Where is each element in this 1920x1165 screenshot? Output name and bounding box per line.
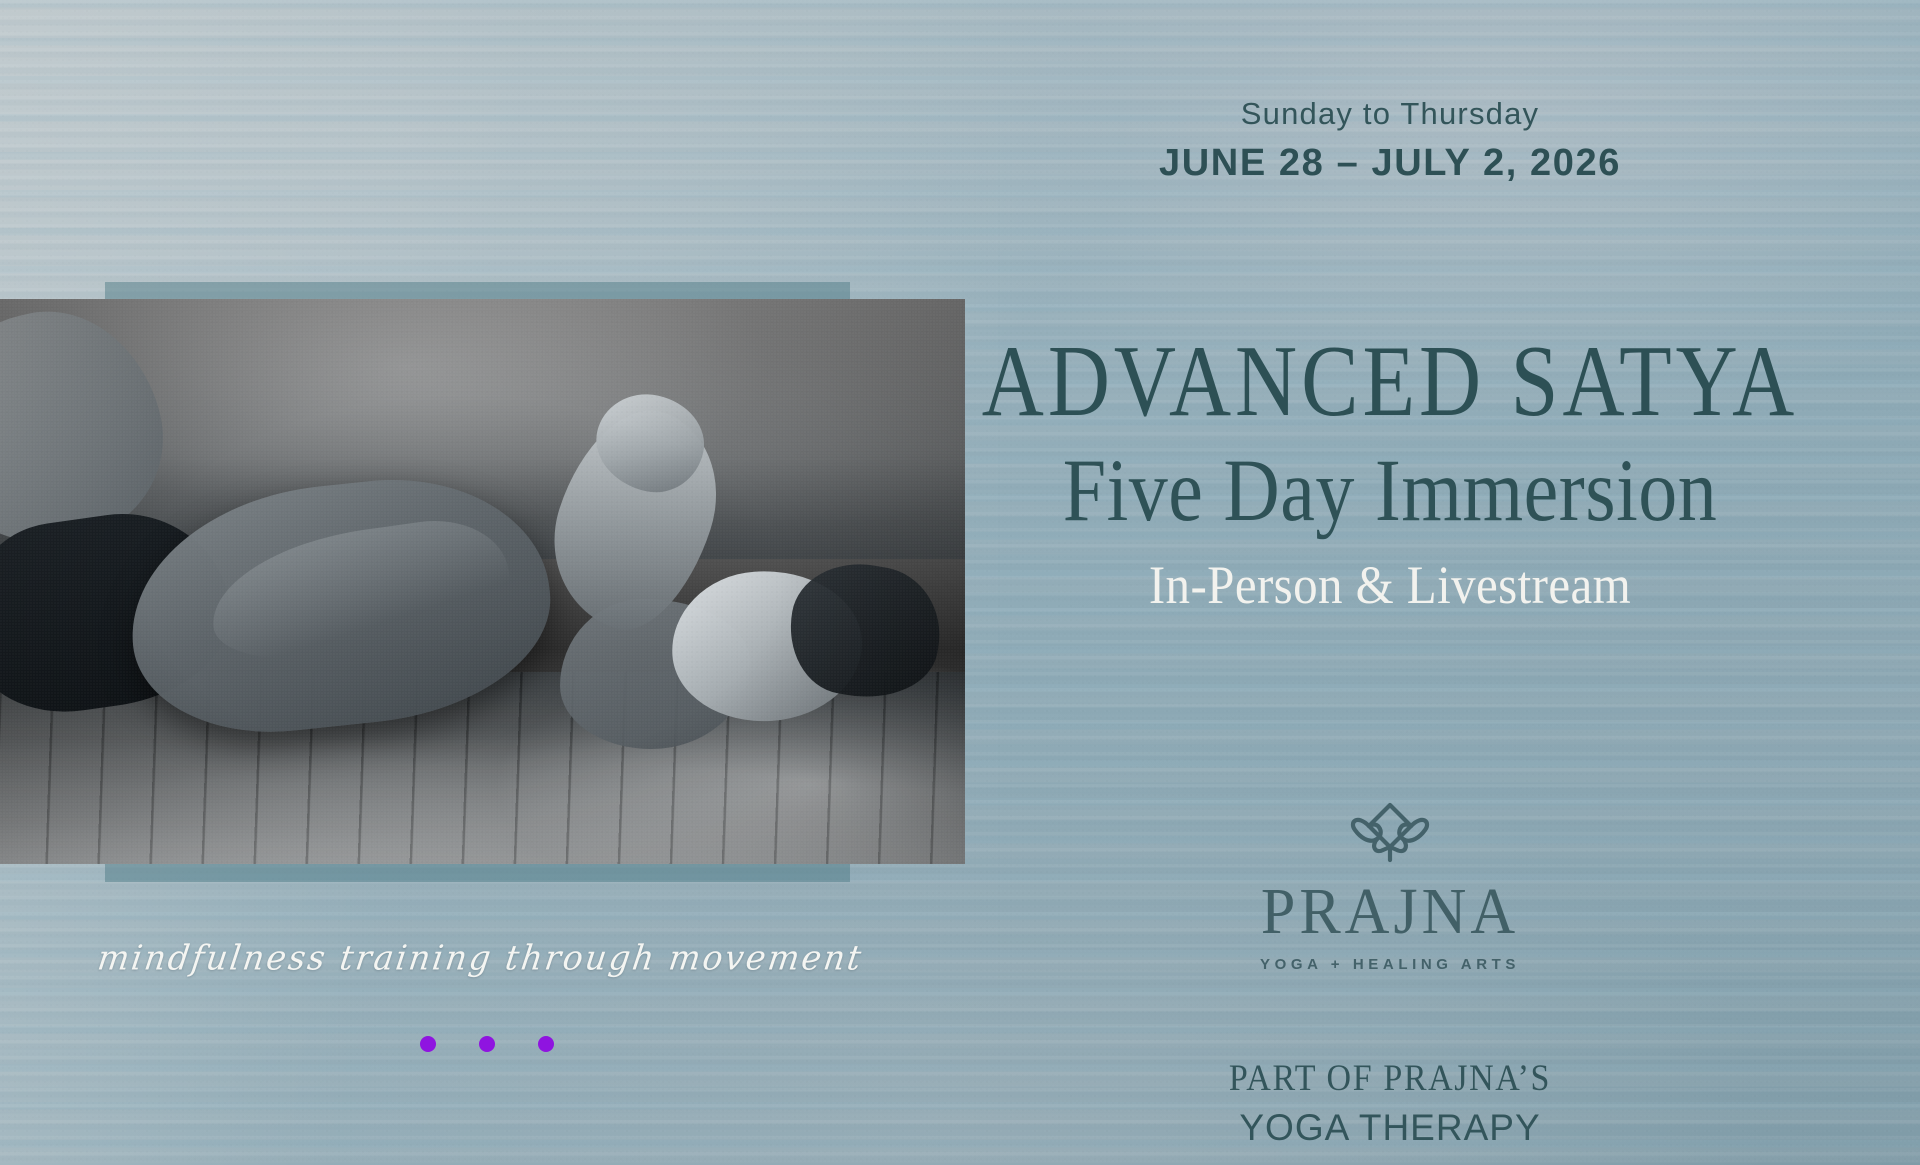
prajna-knot-icon [1347,798,1433,873]
title-block: ADVANCED SATYA Five Day Immersion In-Per… [860,330,1920,607]
date-block: Sunday to Thursday JUNE 28 – JULY 2, 202… [860,98,1920,182]
photo-grain [0,299,965,864]
prajna-logo-tagline: YOGA + HEALING ARTS [1260,957,1520,972]
poster-canvas: Sunday to Thursday JUNE 28 – JULY 2, 202… [0,0,1920,1165]
dot-2 [479,1036,495,1052]
page-title: ADVANCED SATYA [860,330,1920,431]
weekday-range: Sunday to Thursday [860,98,1920,129]
attendance-format: In-Person & Livestream [860,558,1920,612]
date-range: JUNE 28 – JULY 2, 2026 [860,144,1920,182]
footer-line-1: PART OF PRAJNA’S [860,1061,1920,1098]
footer-line-2: YOGA THERAPY [860,1109,1920,1146]
prajna-wordmark: PRAJNA [1261,879,1519,945]
dot-separator [420,1036,554,1052]
prajna-logo: PRAJNA YOGA + HEALING ARTS [860,798,1920,972]
script-tagline: mindfulness training through movement [95,937,866,978]
right-content-column: Sunday to Thursday JUNE 28 – JULY 2, 202… [860,0,1920,1165]
page-subtitle: Five Day Immersion [860,446,1920,535]
hero-photo [0,299,965,864]
dot-1 [420,1036,436,1052]
footer-block: PART OF PRAJNA’S YOGA THERAPY [860,1062,1920,1146]
dot-3 [538,1036,554,1052]
